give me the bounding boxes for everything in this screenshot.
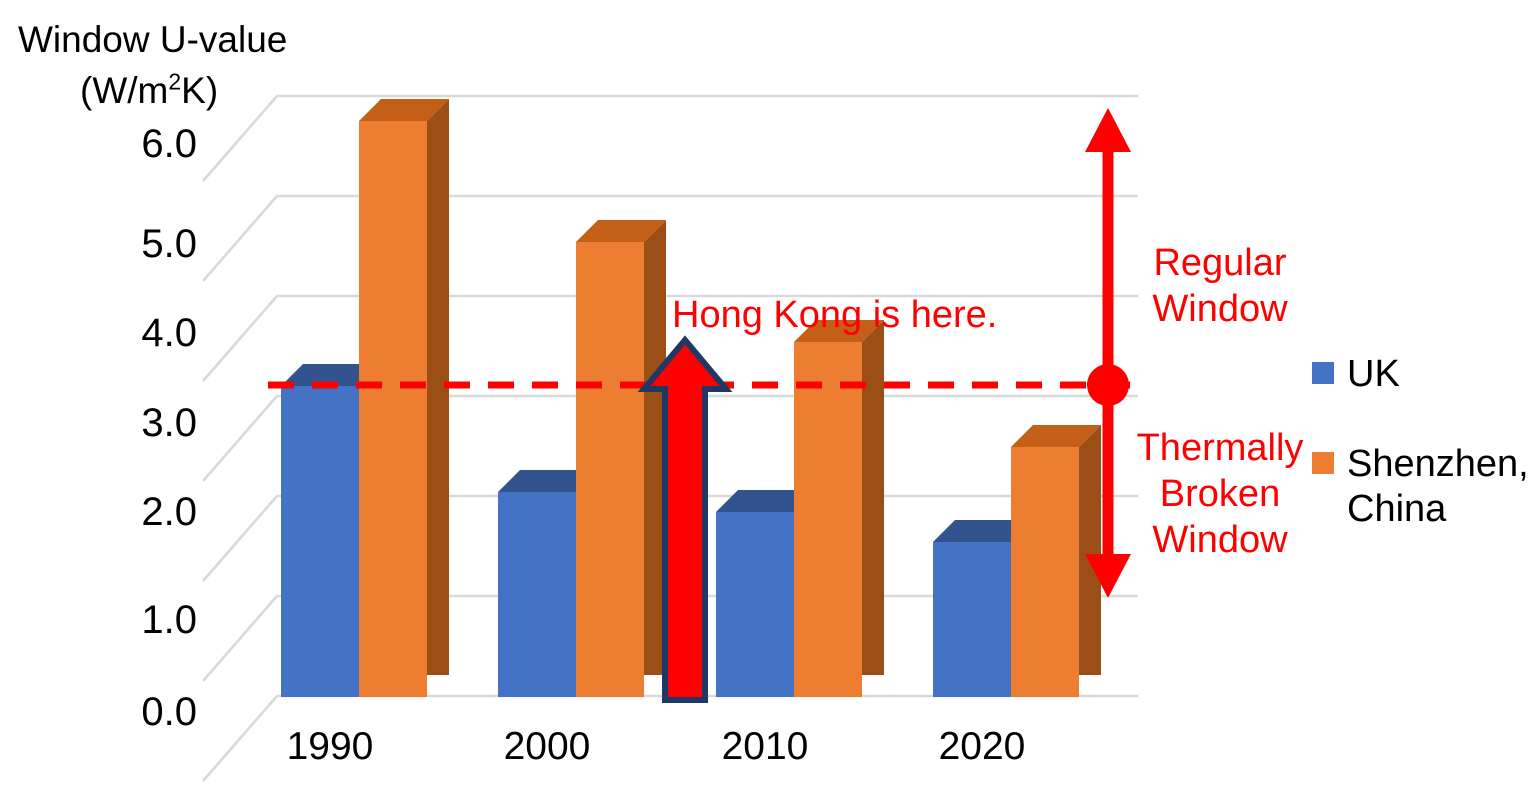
hong-kong-annotation-label: Hong Kong is here. (672, 292, 997, 338)
thermally-broken-line3: Window (1128, 517, 1312, 563)
y-axis-tick-labels: 6.0 5.0 4.0 3.0 2.0 1.0 0.0 (60, 0, 197, 788)
legend-item-uk[interactable]: UK (1312, 352, 1400, 397)
y-tick-4: 4.0 (60, 313, 197, 353)
bar-uk-2020 (933, 542, 1011, 697)
y-tick-3: 3.0 (60, 403, 197, 443)
thermally-broken-line2: Broken (1128, 471, 1312, 517)
bar-shenzhen-2020 (1011, 447, 1079, 697)
x-tick-2020: 2020 (892, 727, 1072, 766)
legend-label-uk: UK (1347, 352, 1400, 397)
bar-uk-1990 (281, 386, 359, 697)
bar-front (933, 542, 1011, 697)
bar-front (794, 342, 862, 697)
y-tick-0: 0.0 (60, 692, 197, 732)
y-tick-5: 5.0 (60, 224, 197, 264)
y-tick-1: 1.0 (60, 600, 197, 640)
thermally-broken-line1: Thermally (1128, 425, 1312, 471)
bar-side (862, 320, 884, 675)
thermally-broken-window-annotation: Thermally Broken Window (1128, 425, 1312, 563)
bar-side (1079, 425, 1101, 675)
x-tick-1990: 1990 (240, 727, 420, 766)
y-tick-2: 2.0 (60, 492, 197, 532)
bar-side (644, 220, 666, 675)
bar-front (359, 121, 427, 697)
bar-shenzhen-2010 (794, 342, 862, 697)
legend-swatch-uk (1312, 362, 1334, 384)
regular-window-line2: Window (1140, 286, 1300, 332)
bar-front (498, 492, 576, 697)
bar-front (576, 242, 644, 697)
bar-front (716, 512, 794, 697)
regular-window-line1: Regular (1140, 240, 1300, 286)
chart-root: Window U-value (W/m2K) 6.0 5.0 4.0 3.0 2… (0, 0, 1536, 788)
bar-front (1011, 447, 1079, 697)
legend-label-shenzhen: Shenzhen, China (1347, 442, 1529, 532)
bar-uk-2000 (498, 492, 576, 697)
y-tick-6: 6.0 (60, 124, 197, 164)
bar-shenzhen-2000 (576, 242, 644, 697)
regular-window-annotation: Regular Window (1140, 240, 1300, 332)
x-tick-2010: 2010 (675, 727, 855, 766)
legend-swatch-shenzhen (1312, 452, 1334, 474)
x-tick-2000: 2000 (457, 727, 637, 766)
bar-side (427, 99, 449, 675)
legend-item-shenzhen[interactable]: Shenzhen, China (1312, 442, 1529, 532)
bar-front (281, 386, 359, 697)
bar-uk-2010 (716, 512, 794, 697)
bar-shenzhen-1990 (359, 121, 427, 697)
